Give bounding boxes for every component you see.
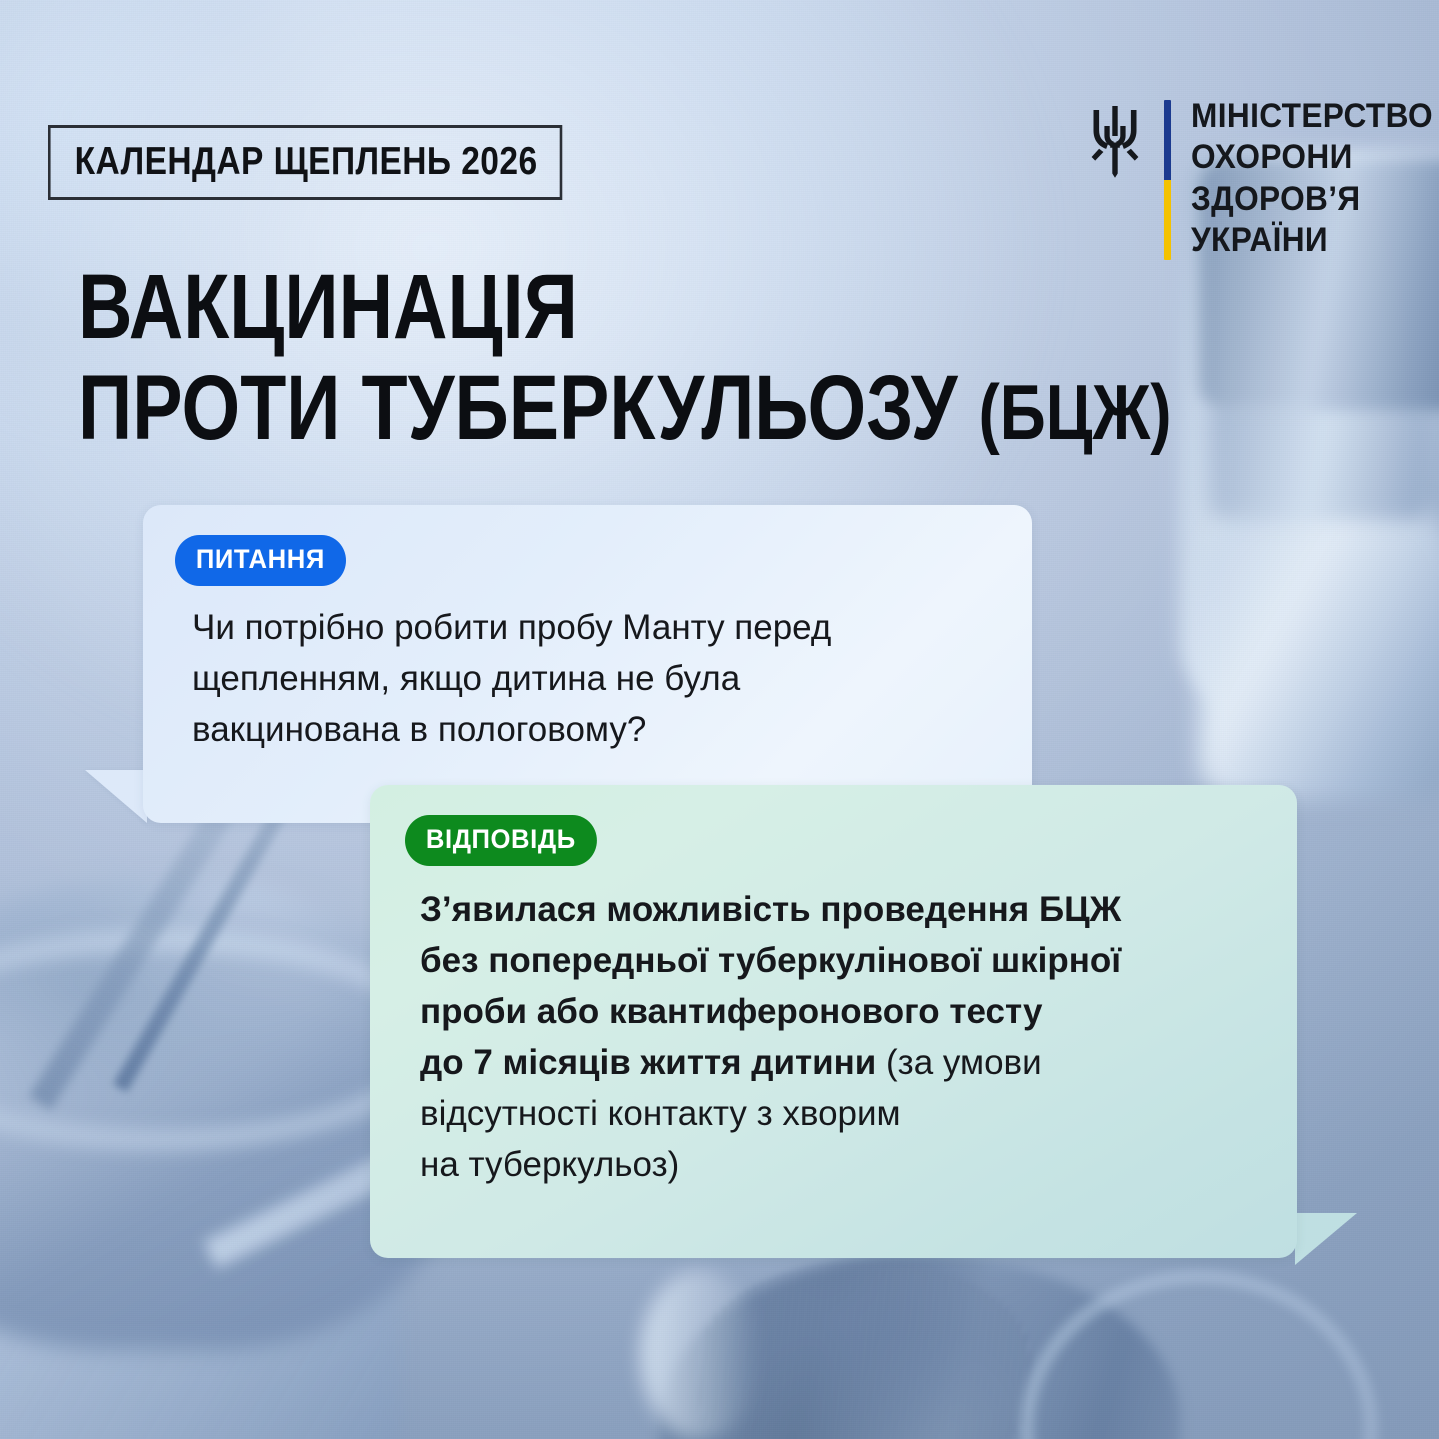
background-bottle-shoulder [1199,500,1439,800]
page-title: ВАКЦИНАЦІЯ ПРОТИ ТУБЕРКУЛЬОЗУ (БЦЖ) [78,262,1172,454]
question-bubble-tail [85,770,147,823]
page-title-line2: ПРОТИ ТУБЕРКУЛЬОЗУ (БЦЖ) [78,363,1172,454]
page-title-abbr: (БЦЖ) [978,368,1171,456]
question-text: Чи потрібно робити пробу Манту перед щеп… [192,602,1022,755]
ministry-logo: МІНІСТЕРСТВО ОХОРОНИ ЗДОРОВ’Я УКРАЇНИ [1086,96,1439,262]
flag-divider-bar [1164,100,1171,260]
question-badge: ПИТАННЯ [175,535,346,586]
ministry-logo-line3: ЗДОРОВ’Я [1191,179,1433,220]
ministry-logo-line4: УКРАЇНИ [1191,220,1433,261]
page-title-line1: ВАКЦИНАЦІЯ [78,262,1172,353]
answer-badge: ВІДПОВІДЬ [405,815,597,866]
calendar-badge: КАЛЕНДАР ЩЕПЛЕНЬ 2026 [48,125,562,200]
answer-bubble-tail [1295,1213,1357,1265]
infographic-canvas: КАЛЕНДАР ЩЕПЛЕНЬ 2026 ВАКЦИНАЦІЯ ПРОТИ Т… [0,0,1439,1439]
ministry-logo-text: МІНІСТЕРСТВО ОХОРОНИ ЗДОРОВ’Я УКРАЇНИ [1191,96,1433,262]
background-vial-cap-highlight [640,1270,760,1439]
background-bottle-neck [1209,400,1429,520]
page-title-line2-main: ПРОТИ ТУБЕРКУЛЬОЗУ [78,357,958,459]
ministry-logo-line2: ОХОРОНИ [1191,137,1433,178]
ministry-logo-line1: МІНІСТЕРСТВО [1191,96,1433,137]
ukrainian-trident-icon [1086,102,1144,178]
answer-text: З’явилася можливість проведення БЦЖ без … [420,884,1260,1191]
